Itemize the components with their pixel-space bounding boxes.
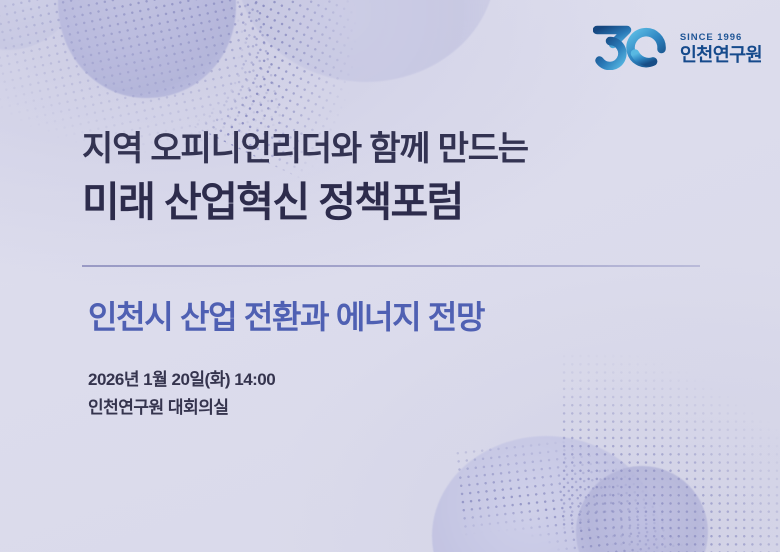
logo-since-label: SINCE 1996	[680, 33, 742, 43]
event-datetime: 2026년 1월 20일(화) 14:00	[88, 366, 712, 394]
section-divider	[82, 265, 700, 267]
event-venue: 인천연구원 대회의실	[88, 394, 712, 422]
poster-subtitle: 인천시 산업 전환과 에너지 전망	[88, 298, 712, 336]
poster-content: 지역 오피니언리더와 함께 만드는 미래 산업혁신 정책포럼 인천시 산업 전환…	[82, 128, 712, 421]
title-line-1: 지역 오피니언리더와 함께 만드는	[82, 128, 712, 172]
logo-institute-name: 인천연구원	[680, 46, 762, 65]
event-details: 2026년 1월 20일(화) 14:00 인천연구원 대회의실	[88, 366, 712, 421]
title-line-2: 미래 산업혁신 정책포럼	[82, 178, 712, 227]
anniversary-30-icon	[593, 22, 671, 70]
event-poster: SINCE 1996 인천연구원 지역 오피니언리더와 함께 만드는 미래 산업…	[0, 0, 780, 552]
institute-logo: SINCE 1996 인천연구원	[593, 22, 762, 70]
logo-text-block: SINCE 1996 인천연구원	[680, 28, 762, 65]
